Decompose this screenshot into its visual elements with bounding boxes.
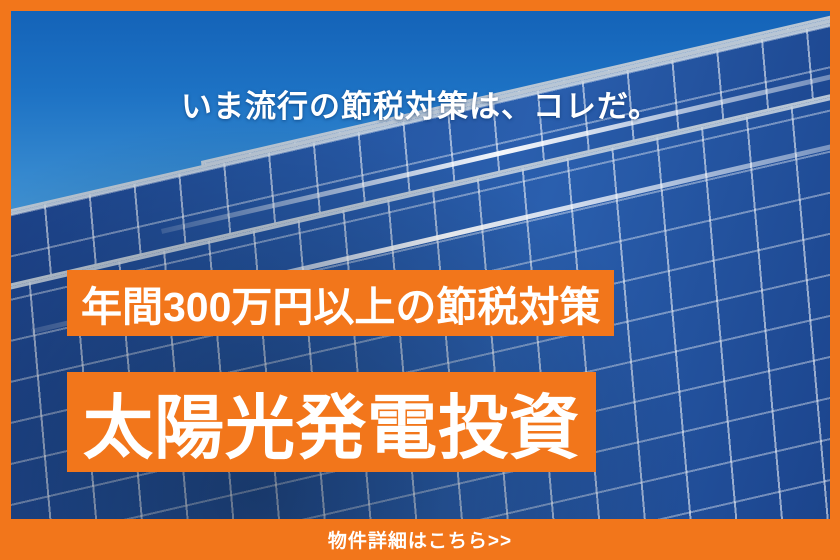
background-photo: いま流行の節税対策は、コレだ。 年間300万円以上の節税対策 太陽光発電投資 [11, 11, 830, 519]
subheading-band: 年間300万円以上の節税対策 [67, 270, 614, 336]
cta-label[interactable]: 物件詳細はこちら>> [328, 526, 512, 553]
main-title-text: 太陽光発電投資 [83, 372, 580, 473]
headline-text: いま流行の節税対策は、コレだ。 [11, 81, 830, 126]
cta-bar[interactable]: 物件詳細はこちら>> [0, 519, 840, 560]
subheading-text: 年間300万円以上の節税対策 [81, 273, 600, 333]
main-title-band: 太陽光発電投資 [67, 372, 596, 472]
advertisement-banner: いま流行の節税対策は、コレだ。 年間300万円以上の節税対策 太陽光発電投資 物… [0, 0, 840, 560]
